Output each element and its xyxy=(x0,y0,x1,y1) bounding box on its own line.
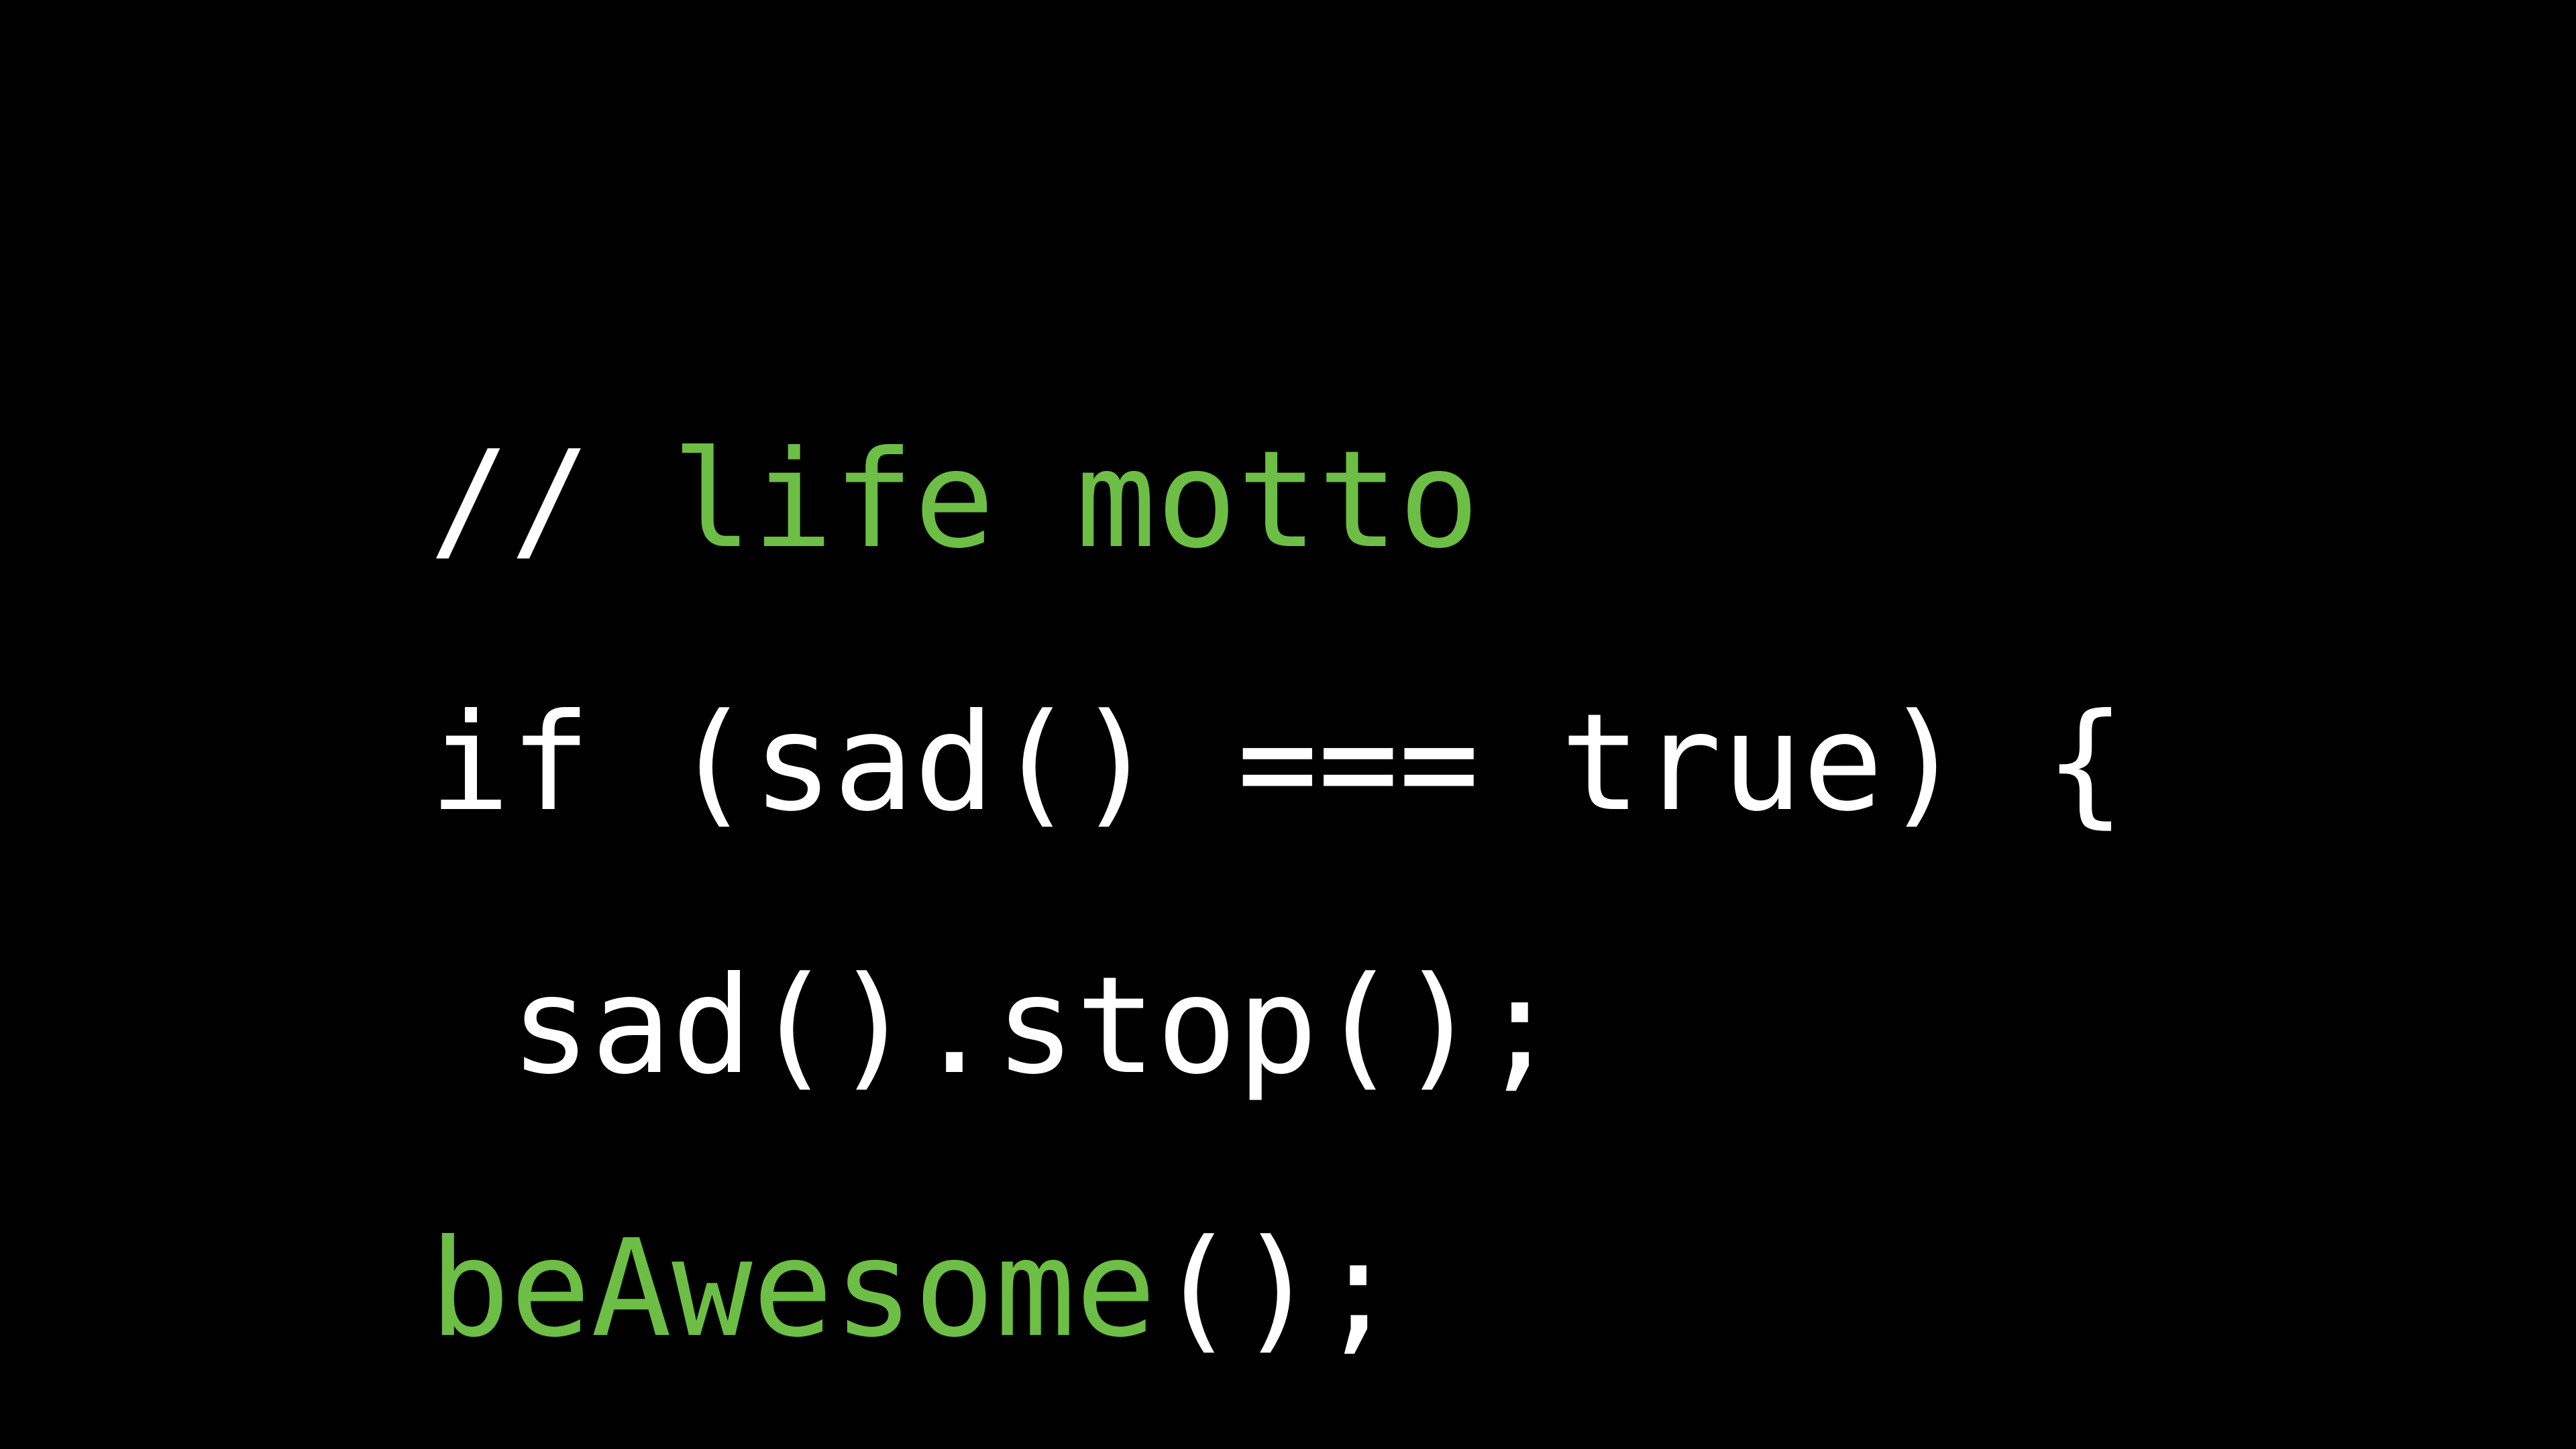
code-line-1: // life motto xyxy=(429,435,2126,566)
code-line-4: beAwesome(); xyxy=(429,1224,2126,1355)
code-token-comment-slash: // xyxy=(429,422,672,578)
code-wallpaper-canvas: // life motto if (sad() === true) { sad(… xyxy=(0,0,2576,1449)
code-snippet: // life motto if (sad() === true) { sad(… xyxy=(429,435,2126,1449)
code-token-plain: (); xyxy=(1157,1211,1399,1367)
code-line-2: if (sad() === true) { xyxy=(429,698,2126,829)
code-token-fn-green: beAwesome xyxy=(429,1211,1157,1367)
code-line-3: sad().stop(); xyxy=(429,961,2126,1092)
code-token-plain: sad().stop(); xyxy=(429,948,1560,1104)
code-token-comment-text: life motto xyxy=(672,422,1479,578)
code-token-plain: if (sad() === true) { xyxy=(429,685,2126,841)
